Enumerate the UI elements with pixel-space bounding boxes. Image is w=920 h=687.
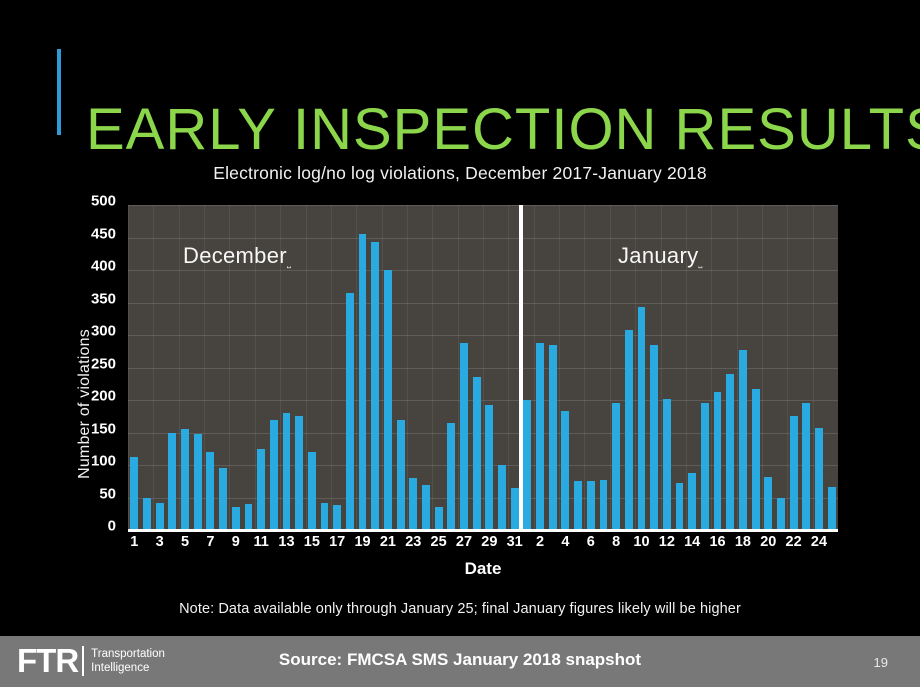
x-tick-label: 23 — [405, 534, 421, 550]
bar — [663, 399, 671, 530]
december-annotation: December˽ — [183, 243, 291, 269]
bar — [460, 343, 468, 530]
x-tick-label: 10 — [633, 534, 649, 550]
bar — [270, 420, 278, 531]
y-tick-label: 200 — [70, 388, 116, 405]
y-tick-label: 250 — [70, 355, 116, 372]
bar — [536, 343, 544, 530]
bar — [219, 468, 227, 530]
x-tick-label: 31 — [507, 534, 523, 550]
x-tick-label: 21 — [380, 534, 396, 550]
plot-area: December˽ January˽ — [128, 205, 838, 530]
bar — [283, 413, 291, 530]
bar — [600, 480, 608, 530]
bar — [447, 423, 455, 530]
x-tick-label: 27 — [456, 534, 472, 550]
bar — [549, 345, 557, 530]
footer-bar: FTR Transportation Intelligence Source: … — [0, 636, 920, 687]
x-axis-tick-labels: 1357911131517192123252729312468101214161… — [128, 534, 838, 556]
bar — [308, 452, 316, 530]
bar — [384, 270, 392, 530]
y-tick-label: 100 — [70, 453, 116, 470]
bar — [638, 307, 646, 530]
december-annotation-mark: ˽ — [287, 258, 291, 269]
bar — [561, 411, 569, 530]
bar — [245, 504, 253, 530]
bar — [371, 242, 379, 530]
y-axis-tick-labels: 050100150200250300350400450500 — [70, 201, 116, 531]
month-divider-line — [519, 205, 523, 530]
bar — [257, 449, 265, 530]
x-tick-label: 11 — [253, 534, 268, 550]
bar — [295, 416, 303, 530]
bar — [764, 477, 772, 530]
bar — [435, 507, 443, 530]
y-tick-label: 0 — [70, 518, 116, 535]
x-tick-label: 17 — [329, 534, 345, 550]
x-tick-label: 13 — [278, 534, 294, 550]
bar — [333, 505, 341, 530]
slide: EARLY INSPECTION RESULTS Electronic log/… — [0, 0, 920, 687]
x-tick-label: 9 — [232, 534, 240, 550]
x-tick-label: 18 — [735, 534, 751, 550]
bar — [625, 330, 633, 530]
y-tick-label: 50 — [70, 485, 116, 502]
bar — [688, 473, 696, 530]
chart-container: Electronic log/no log violations, Decemb… — [0, 155, 920, 630]
bar — [726, 374, 734, 530]
x-tick-label: 6 — [587, 534, 595, 550]
bar — [232, 507, 240, 530]
x-tick-label: 15 — [304, 534, 320, 550]
bar — [511, 488, 519, 530]
x-tick-label: 29 — [481, 534, 497, 550]
bar — [790, 416, 798, 530]
x-tick-label: 19 — [354, 534, 370, 550]
page-number: 19 — [874, 655, 888, 670]
bar — [739, 350, 747, 530]
y-tick-label: 400 — [70, 258, 116, 275]
bar — [156, 503, 164, 530]
bar — [422, 485, 430, 531]
bar — [473, 377, 481, 530]
y-tick-label: 300 — [70, 323, 116, 340]
title-accent-bar — [57, 49, 61, 135]
bar — [574, 481, 582, 530]
x-axis-title: Date — [128, 559, 838, 579]
bar — [321, 503, 329, 530]
x-tick-label: 3 — [156, 534, 164, 550]
x-tick-label: 7 — [206, 534, 214, 550]
chart-title: Electronic log/no log violations, Decemb… — [0, 163, 920, 184]
x-tick-label: 25 — [431, 534, 447, 550]
x-tick-label: 2 — [536, 534, 544, 550]
bar — [194, 434, 202, 530]
bar — [523, 400, 531, 530]
bar — [701, 403, 709, 530]
bar — [676, 483, 684, 530]
chart-note: Note: Data available only through Januar… — [0, 601, 920, 617]
bar — [612, 403, 620, 530]
footer-source-text: Source: FMCSA SMS January 2018 snapshot — [0, 650, 920, 670]
y-tick-label: 500 — [70, 193, 116, 210]
y-tick-label: 150 — [70, 420, 116, 437]
x-tick-label: 12 — [659, 534, 675, 550]
x-tick-label: 14 — [684, 534, 700, 550]
bar — [815, 428, 823, 530]
bar — [130, 457, 138, 530]
bar — [485, 405, 493, 530]
bar — [587, 481, 595, 530]
bar — [181, 429, 189, 530]
january-annotation-mark: ˽ — [698, 258, 702, 269]
x-tick-label: 4 — [561, 534, 569, 550]
bar — [828, 487, 836, 530]
x-tick-label: 5 — [181, 534, 189, 550]
bar — [777, 498, 785, 531]
bar — [397, 420, 405, 531]
january-annotation: January˽ — [618, 243, 703, 269]
x-tick-label: 16 — [709, 534, 725, 550]
bar — [409, 478, 417, 530]
x-tick-label: 1 — [130, 534, 138, 550]
x-tick-label: 8 — [612, 534, 620, 550]
bar — [143, 498, 151, 530]
bar — [802, 403, 810, 530]
bar — [359, 234, 367, 530]
bar — [346, 293, 354, 530]
y-tick-label: 450 — [70, 225, 116, 242]
x-tick-label: 24 — [811, 534, 827, 550]
bar — [650, 345, 658, 530]
x-tick-label: 20 — [760, 534, 776, 550]
x-tick-label: 22 — [786, 534, 802, 550]
bar — [206, 452, 214, 530]
x-axis-line — [128, 529, 838, 532]
bar — [498, 465, 506, 530]
bar — [752, 389, 760, 530]
bar — [168, 433, 176, 531]
y-tick-label: 350 — [70, 290, 116, 307]
bar — [714, 392, 722, 530]
